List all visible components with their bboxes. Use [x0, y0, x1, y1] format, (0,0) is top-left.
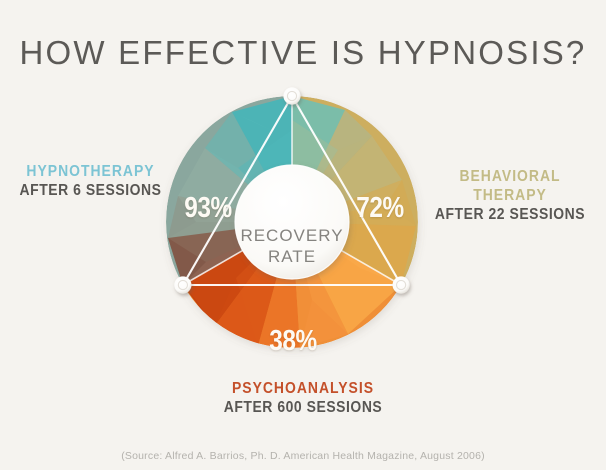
legend-hypnotherapy-sessions: AFTER 6 SESSIONS [16, 181, 165, 201]
hub-label-line1: RECOVERY [232, 225, 352, 246]
legend-behavioral-name: BEHAVIORAL THERAPY [429, 167, 591, 205]
legend-psychoanalysis: PSYCHOANALYSIS AFTER 600 SESSIONS [203, 379, 403, 418]
hub-label: RECOVERY RATE [232, 225, 352, 267]
source-note: (Source: Alfred A. Barrios, Ph. D. Ameri… [0, 450, 606, 462]
value-psychoanalysis: 38% [259, 325, 326, 358]
value-hypnotherapy: 93% [174, 192, 241, 225]
vertex-node-bottom-right[interactable] [393, 276, 410, 293]
legend-behavioral-sessions: AFTER 22 SESSIONS [429, 205, 591, 225]
legend-behavioral: BEHAVIORAL THERAPY AFTER 22 SESSIONS [420, 167, 600, 225]
hub-label-line2: RATE [232, 246, 352, 267]
legend-hypnotherapy: HYPNOTHERAPY AFTER 6 SESSIONS [8, 162, 173, 201]
legend-psychoanalysis-name: PSYCHOANALYSIS [213, 379, 393, 398]
legend-psychoanalysis-sessions: AFTER 600 SESSIONS [213, 398, 393, 418]
value-behavioral: 72% [346, 192, 413, 225]
legend-hypnotherapy-name: HYPNOTHERAPY [16, 162, 165, 181]
vertex-node-bottom-left[interactable] [174, 276, 191, 293]
vertex-node-top[interactable] [283, 87, 300, 104]
